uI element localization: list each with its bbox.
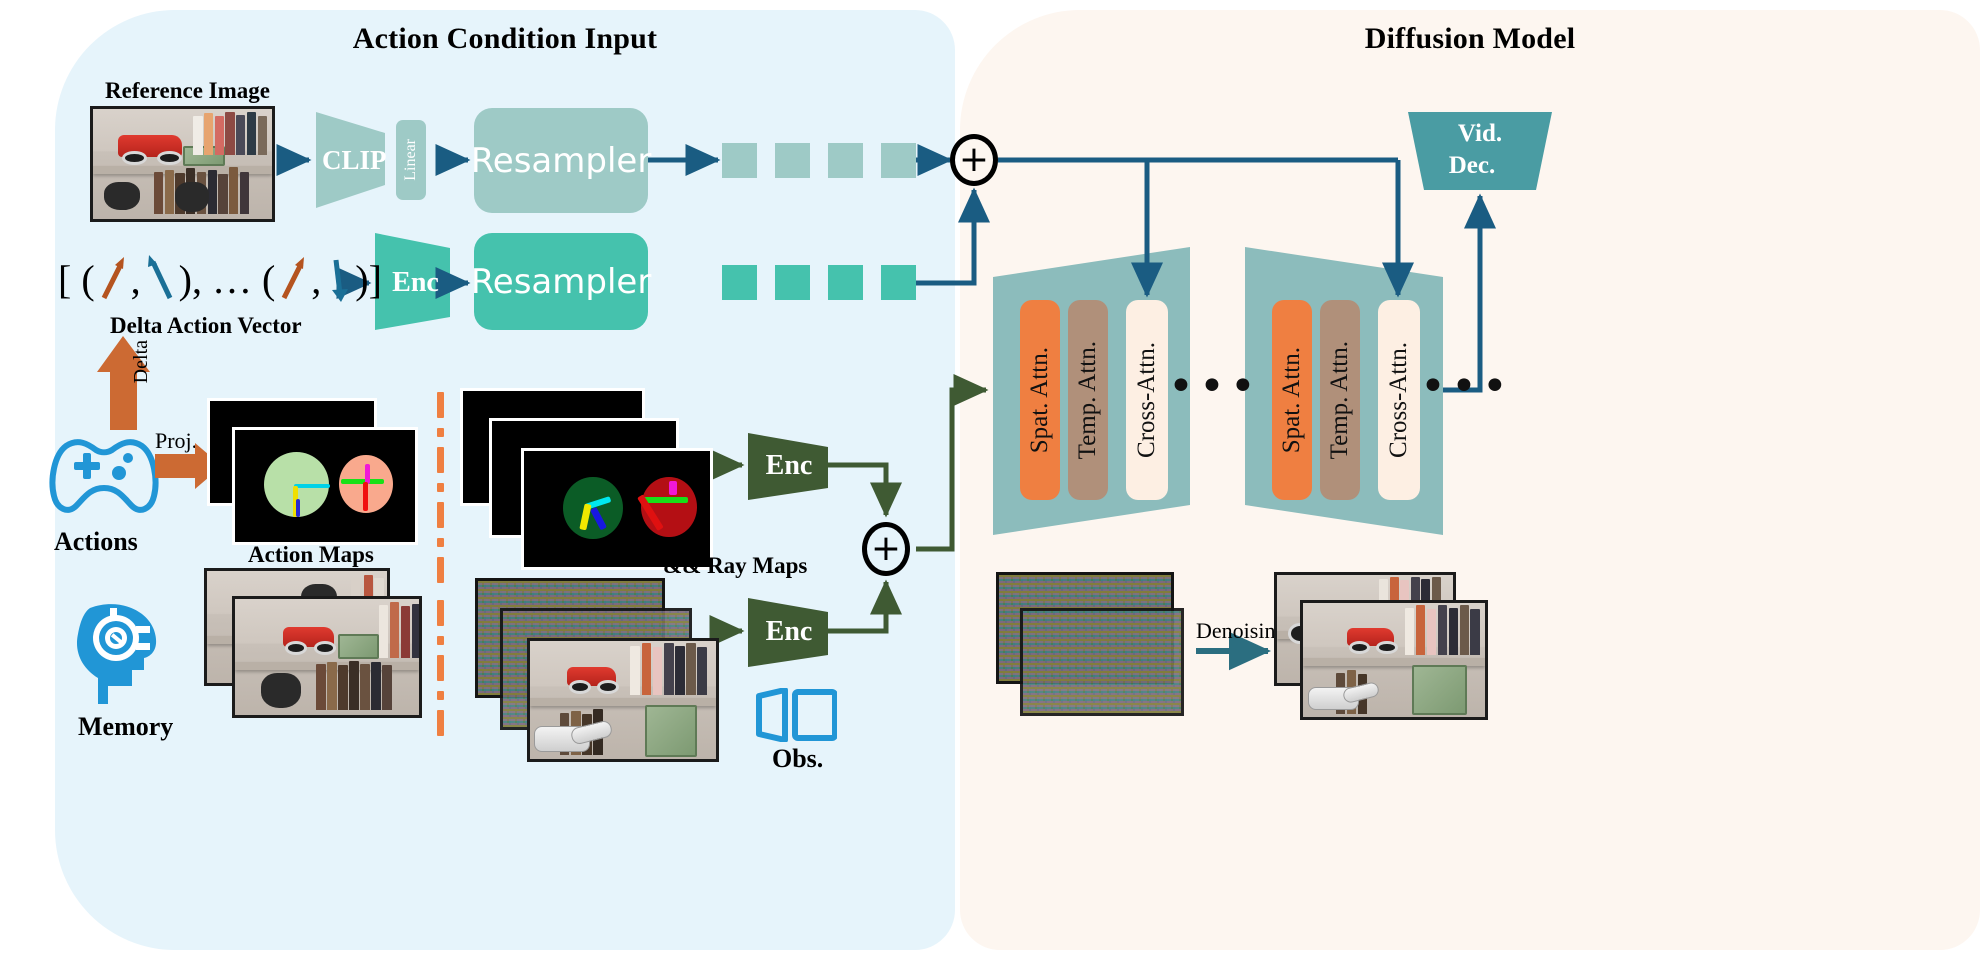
delta-arrow-label: Delta xyxy=(130,340,153,383)
actions-label: Actions xyxy=(54,527,138,557)
denoise-input-frame-front xyxy=(1020,608,1184,716)
spat-attn-chip-right-label: Spat. Attn. xyxy=(1278,347,1306,453)
denoise-output-frame-front xyxy=(1300,600,1488,720)
memory-photo-front xyxy=(232,596,422,718)
action-token xyxy=(881,265,916,300)
image-token xyxy=(722,143,757,178)
action-token xyxy=(828,265,863,300)
proj-label: Proj. xyxy=(155,428,197,454)
enc-obs-label: Enc xyxy=(760,616,818,648)
plus-symbol: + xyxy=(959,142,989,178)
action-token xyxy=(775,265,810,300)
resampler-image-label: Resampler xyxy=(471,141,652,181)
arrow-down-right-blue-icon xyxy=(143,252,177,306)
panel-title-right: Diffusion Model xyxy=(960,22,1980,56)
resampler-action-block: Resampler xyxy=(474,233,648,330)
cross-attn-chip-left: Cross-Attn. xyxy=(1126,300,1168,500)
bracket-mid: ), … ( xyxy=(179,256,276,303)
enc-action-label: Enc xyxy=(388,267,443,299)
temp-attn-chip-right-label: Temp. Attn. xyxy=(1326,341,1354,459)
temp-attn-chip-right: Temp. Attn. xyxy=(1320,300,1360,500)
plus-node-latent: + xyxy=(862,522,910,576)
temp-attn-chip-left-label: Temp. Attn. xyxy=(1074,341,1102,459)
arrow-down-blue-icon xyxy=(323,252,353,306)
denoising-label: Denoising xyxy=(1196,618,1286,644)
unet-right-ellipsis: ••• xyxy=(1420,365,1513,409)
obs-label: Obs. xyxy=(772,744,823,774)
spat-attn-chip-left-label: Spat. Attn. xyxy=(1026,347,1054,453)
image-token xyxy=(775,143,810,178)
bracket-open: [ ( xyxy=(58,256,95,303)
dash-dot-divider-top xyxy=(437,392,444,602)
arrow-up-right-orange-icon xyxy=(97,252,129,306)
plus-node-condition: + xyxy=(950,134,998,186)
diffusion-model-panel xyxy=(960,10,1980,950)
cross-attn-chip-right: Cross-Attn. xyxy=(1378,300,1420,500)
cross-attn-chip-left-label: Cross-Attn. xyxy=(1133,342,1161,458)
reference-image-label: Reference Image xyxy=(105,78,270,104)
delta-action-vector-expression: [ ( , ), … ( , )] xyxy=(58,252,382,306)
image-token xyxy=(828,143,863,178)
dash-dot-divider-bottom xyxy=(437,600,444,750)
action-token xyxy=(722,265,757,300)
resampler-image-block: Resampler xyxy=(474,108,648,213)
arrow-up-right-orange-icon xyxy=(277,252,309,306)
delta-action-vector-label: Delta Action Vector xyxy=(110,313,302,339)
video-decoder-label-line2: Dec. xyxy=(1400,152,1544,180)
unet-left-ellipsis: ••• xyxy=(1168,365,1261,409)
temp-attn-chip-left: Temp. Attn. xyxy=(1068,300,1108,500)
action-map-frame-front xyxy=(232,427,418,545)
memory-label: Memory xyxy=(78,712,173,742)
enc-raymaps-label: Enc xyxy=(760,450,818,482)
image-token xyxy=(881,143,916,178)
resampler-action-label: Resampler xyxy=(471,262,652,302)
comma: , xyxy=(311,256,321,303)
spat-attn-chip-left: Spat. Attn. xyxy=(1020,300,1060,500)
clip-block-label: CLIP xyxy=(322,145,382,176)
ray-maps-label: && Ray Maps xyxy=(663,553,807,579)
action-maps-label: Action Maps xyxy=(248,542,374,568)
camera-obs-icon xyxy=(755,688,837,742)
spat-attn-chip-right: Spat. Attn. xyxy=(1272,300,1312,500)
gamepad-icon xyxy=(44,436,164,518)
ray-map-frame-front xyxy=(521,448,713,570)
panel-title-left: Action Condition Input xyxy=(55,22,955,56)
memory-head-icon xyxy=(70,600,166,704)
linear-block-label: Linear xyxy=(402,139,420,181)
bracket-close: )] xyxy=(355,256,382,303)
plus-symbol: + xyxy=(871,531,901,567)
video-decoder-label-line1: Vid. xyxy=(1408,120,1552,148)
obs-photo-front xyxy=(527,638,719,762)
cross-attn-chip-right-label: Cross-Attn. xyxy=(1385,342,1413,458)
comma: , xyxy=(131,256,141,303)
linear-block: Linear xyxy=(396,120,426,200)
reference-image-photo xyxy=(90,106,275,222)
